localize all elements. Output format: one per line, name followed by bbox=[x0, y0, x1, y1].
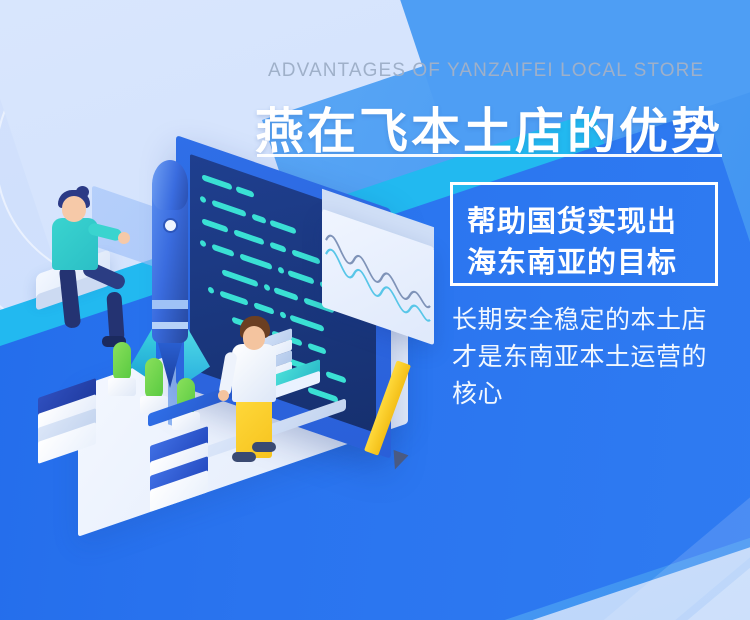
body-text-line-1: 长期安全稳定的本土店 bbox=[452, 300, 707, 336]
highlight-box-line-1: 帮助国货实现出 bbox=[467, 198, 677, 240]
page-title: 燕在飞本土店的优势 bbox=[255, 92, 723, 163]
body-text-line-2: 才是东南亚本土运营的 bbox=[452, 337, 707, 373]
title-underline bbox=[257, 154, 722, 157]
highlight-box-line-2: 海东南亚的目标 bbox=[467, 239, 677, 281]
body-text-line-3: 核心 bbox=[452, 374, 503, 410]
eyebrow-text: ADVANTAGES OF YANZAIFEI LOCAL STORE bbox=[268, 60, 728, 82]
text-column: ADVANTAGES OF YANZAIFEI LOCAL STORE 燕在飞本… bbox=[0, 0, 750, 620]
promo-banner: ADVANTAGES OF YANZAIFEI LOCAL STORE 燕在飞本… bbox=[0, 0, 750, 620]
highlight-box: 帮助国货实现出 海东南亚的目标 bbox=[450, 182, 718, 286]
